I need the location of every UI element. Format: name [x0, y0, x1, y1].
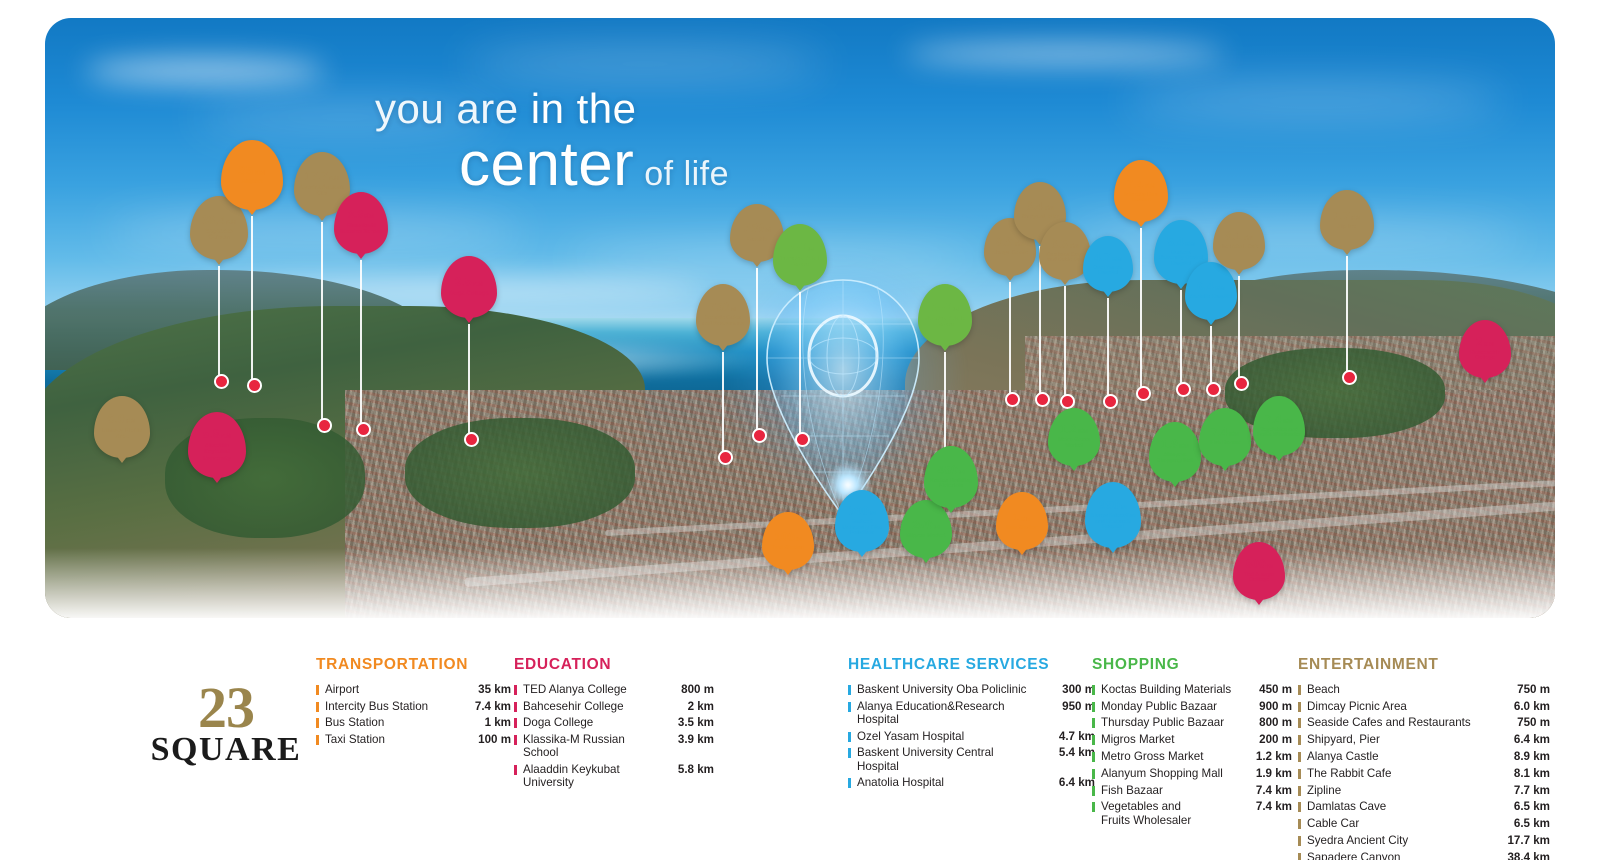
map-pin-label: Intercity Bus Station — [1114, 193, 1168, 205]
map-pin-stem — [360, 260, 362, 432]
map-pin-distance: 1.9KM — [1161, 439, 1189, 451]
legend-item-label-line2: Fruits Wholesaler — [1101, 814, 1236, 827]
map-pin-distance: 17.7KM — [305, 171, 339, 183]
legend-bullet-icon — [1092, 769, 1095, 779]
legend-item-label: The Rabbit Cafe — [1307, 767, 1488, 780]
map-pin-unit: M — [953, 306, 959, 313]
map-pin[interactable]: 35KMAirport — [221, 140, 283, 210]
map-pin-stem — [468, 324, 470, 442]
map-pin-unit: KM — [1112, 256, 1122, 263]
legend-item-value: 8.1 km — [1488, 767, 1550, 780]
map-pin[interactable]: 6.0KMDimcay Picnic Area — [94, 396, 150, 458]
legend-item[interactable]: Klassika-M Russian School3.9 km — [514, 731, 714, 761]
legend-column-entertainment: ENTERTAINMENTBeach750 mDimcay Picnic Are… — [1298, 656, 1550, 860]
map-pin-label: Baskent University Oba Policlinic — [835, 520, 889, 538]
map-pin[interactable]: 1.2KMMetro Gross Market — [1048, 408, 1100, 466]
legend-item[interactable]: Metro Gross Market1.2 km — [1092, 748, 1292, 765]
map-pin-label: Alaaddin Keykubat University — [188, 443, 246, 461]
map-pin[interactable]: 1.9KMAlanyum Shopping Mall — [1149, 422, 1201, 482]
map-pin-label: Thursday Public Bazaar — [773, 256, 827, 268]
legend-column-healthcare: HEALTHCARE SERVICESBaskent University Ob… — [848, 656, 1095, 791]
map-pin-label: Doga College — [445, 291, 493, 298]
legend-bullet-icon — [514, 718, 517, 728]
map-pin-bulb: 3.5KMDoga College — [441, 256, 497, 318]
map-pin-bulb: 7.4KMVegetables and Fruits Wholesaler — [1253, 396, 1305, 456]
map-pin-label: Metro Gross Market — [1048, 438, 1100, 449]
legend-item-label: Alanya Castle — [1307, 750, 1488, 763]
map-pin[interactable]: 3.9KMKlassika-M Russian School — [334, 192, 388, 254]
map-pin-unit: M — [808, 246, 814, 253]
legend-item[interactable]: Alaaddin Keykubat University5.8 km — [514, 761, 714, 791]
map-pin-stem — [251, 216, 253, 388]
headline-line1-thin: you are — [375, 85, 531, 132]
legend-item-label-line1: Cable Car — [1307, 817, 1359, 830]
legend-item-value: 7.4 km — [453, 700, 511, 713]
park — [405, 418, 635, 528]
legend-item-label: TED Alanya College — [523, 683, 654, 696]
map-pin-label: Ozel Yasam Hospital — [1083, 266, 1133, 277]
map-pin-distance: 7.4KM — [1211, 427, 1239, 439]
legend-item-label: Baskent University Oba Policlinic — [857, 683, 1033, 696]
legend-item[interactable]: Koctas Building Materials450 m — [1092, 681, 1292, 698]
legend-item-label-line1: Seaside Cafes and Restaurants — [1307, 716, 1471, 729]
legend-item[interactable]: Migros Market200 m — [1092, 731, 1292, 748]
map-pin-distance: 3.5KM — [455, 276, 484, 289]
legend-item-label-line1: Bus Station — [325, 716, 384, 729]
legend-item-label-line1: Zipline — [1307, 784, 1341, 797]
legend-bullet-icon — [848, 748, 851, 758]
legend-bullet-icon — [316, 735, 319, 745]
legend-item[interactable]: Taxi Station100 m — [316, 731, 511, 748]
map-pin[interactable]: 800MThursday Public Bazaar — [773, 224, 827, 286]
legend-item[interactable]: Intercity Bus Station7.4 km — [316, 698, 511, 715]
map-pin-unit: KM — [221, 433, 232, 440]
legend-bullet-icon — [1092, 752, 1095, 762]
legend-column-education: EDUCATIONTED Alanya College800 mBahceseh… — [514, 656, 714, 791]
map-pin-stem — [1346, 256, 1348, 380]
map-pin-label: Anatolia Hospital — [1186, 295, 1236, 300]
map-pin-stem — [1009, 282, 1011, 402]
map-pin-stem — [1180, 290, 1182, 392]
legend-item-value: 200 m — [1236, 733, 1292, 746]
map-pin-stem — [218, 266, 220, 384]
legend-item-value: 17.7 km — [1488, 834, 1550, 847]
legend-item-value: 6.5 km — [1488, 817, 1550, 830]
legend-item[interactable]: Alanya Castle8.9 km — [1298, 748, 1550, 765]
map-pin-distance: 750M — [743, 222, 771, 235]
legend-item-value: 35 km — [453, 683, 511, 696]
map-pin-label: Alanya Castle — [988, 251, 1033, 257]
legend-item-value: 3.5 km — [654, 716, 714, 729]
legend-bullet-icon — [1298, 819, 1301, 829]
map-pin-unit: M — [796, 536, 802, 543]
legend-item-label-line1: Alaaddin Keykubat University — [523, 763, 620, 789]
map-pin-bulb: 300MBaskent University Oba Policlinic — [835, 490, 889, 552]
legend-column-title: TRANSPORTATION — [316, 656, 511, 674]
legend-item-label-line1: Alanya Castle — [1307, 750, 1379, 763]
map-pin-distance: 800M — [786, 241, 813, 254]
map-pin-stem — [756, 268, 758, 438]
legend-bullet-icon — [1298, 769, 1301, 779]
legend-item-label: Vegetables andFruits Wholesaler — [1101, 800, 1236, 826]
legend-item-value: 5.4 km — [1033, 746, 1095, 759]
map-pin-label: Taxi Station — [768, 545, 808, 551]
legend-item-value: 1.2 km — [1236, 750, 1292, 763]
map-pin-bulb: 1KMBus Station — [996, 492, 1048, 550]
infographic-page: you are in the center of life — [0, 0, 1600, 860]
map-pin[interactable]: 4.7KMOzel Yasam Hospital — [1083, 236, 1133, 292]
map-pin-bulb: 750MSeaside Cafes and Restaurants — [696, 284, 750, 346]
map-pin[interactable]: 6.4KMAnatolia Hospital — [1185, 262, 1237, 320]
map-pin-label: Ted Alanya College — [1233, 573, 1285, 585]
map-pin-distance: 900M — [931, 301, 958, 314]
legend-item-label: Damlatas Cave — [1307, 800, 1488, 813]
legend-bullet-icon — [848, 702, 851, 712]
legend-bullet-icon — [848, 685, 851, 695]
map-pin-distance: 800M — [1245, 558, 1272, 571]
legend-item-label-line1: Damlatas Cave — [1307, 800, 1386, 813]
legend-item-value: 2 km — [654, 700, 714, 713]
map-pin-unit: KM — [1215, 285, 1225, 292]
legend-item-label: Cable Car — [1307, 817, 1488, 830]
legend-item-label: Beach — [1307, 683, 1488, 696]
legend-item-value: 3.9 km — [654, 733, 714, 746]
map-pin-unit: KM — [1145, 183, 1156, 190]
legend-item[interactable]: Baskent University Oba Policlinic300 m — [848, 681, 1095, 698]
map-pin-label: Klassika-M Russian School — [334, 224, 388, 236]
map-pin-label: Bahcesehir College — [1459, 351, 1511, 362]
legend-item-label: Baskent University Central Hospital — [857, 746, 1033, 772]
map-pin-label: Shipyard, Pier — [1017, 215, 1063, 221]
map-pin-unit: KM — [1078, 428, 1088, 435]
legend-item-label-line1: Shipyard, Pier — [1307, 733, 1380, 746]
map-pin-unit: M — [731, 306, 736, 313]
map-pin-unit: M — [765, 227, 771, 234]
legend-bullet-icon — [514, 765, 517, 775]
legend-item[interactable]: Anatolia Hospital6.4 km — [848, 775, 1095, 792]
map-pin-stem — [1107, 298, 1109, 404]
map-pin-bulb: 7.7KMZipline — [1320, 190, 1374, 250]
cloud — [85, 58, 325, 84]
map-pin-label: Koctas Building Materials — [924, 479, 978, 491]
map-pin-label: Vegetables and Fruits Wholesaler — [1253, 428, 1305, 439]
legend-item[interactable]: Seaside Cafes and Restaurants750 m — [1298, 715, 1550, 732]
legend-item[interactable]: Alanya Education&Research Hospital950 m — [848, 698, 1095, 728]
map-pin-unit: KM — [1179, 443, 1189, 450]
legend-bullet-icon — [1298, 752, 1301, 762]
map-pin-distance: 5.4KM — [1167, 237, 1195, 249]
legend-item-value: 5.8 km — [654, 763, 714, 776]
cloud — [1065, 224, 1525, 252]
map-pin-distance: 6.4KM — [1026, 201, 1054, 213]
map-pin[interactable]: 300MBaskent University Oba Policlinic — [835, 490, 889, 552]
legend-item[interactable]: Cable Car6.5 km — [1298, 815, 1550, 832]
map-pin[interactable]: 1KMBus Station — [996, 492, 1048, 550]
map-pin-unit: M — [870, 510, 876, 517]
map-pin-label: Sapadere Canyon — [190, 229, 248, 242]
legend-item[interactable]: Bus Station1 km — [316, 715, 511, 732]
legend-item-label-line1: Beach — [1307, 683, 1340, 696]
map-pin-stem — [722, 352, 724, 460]
cloud — [1125, 88, 1505, 114]
legend-item-label-line1: Intercity Bus Station — [325, 700, 428, 713]
map-pin-bulb: 5.8KMAlaaddin Keykubat University — [188, 412, 246, 478]
brand-number: 23 — [126, 680, 326, 735]
map-pin-label: Airport — [237, 179, 266, 186]
legend-item-value: 8.9 km — [1488, 750, 1550, 763]
map-pin-distance: 5.8KM — [203, 428, 232, 441]
map-pin[interactable]: 5.8KMAlaaddin Keykubat University — [188, 412, 246, 478]
legend-item-label: Klassika-M Russian School — [523, 733, 654, 759]
legend-item-label-line1: Sapadere Canyon — [1307, 851, 1400, 860]
legend-item[interactable]: Shipyard, Pier6.4 km — [1298, 731, 1550, 748]
legend-item-value: 300 m — [1033, 683, 1095, 696]
legend-item[interactable]: Zipline7.7 km — [1298, 782, 1550, 799]
legend-item[interactable]: Sapadere Canyon38.4 km — [1298, 849, 1550, 860]
headline-line1-bold: in the — [531, 85, 637, 132]
legend-item-label-line1: Monday Public Bazaar — [1101, 700, 1217, 713]
map-pin-distance: 950M — [1099, 499, 1126, 512]
legend-item-label: Bahcesehir College — [523, 700, 654, 713]
map-pin-unit: KM — [1351, 215, 1362, 222]
map-pin-unit: KM — [1484, 341, 1495, 348]
map-pin-unit: KM — [126, 418, 137, 425]
map-pin[interactable]: 800MTed Alanya College — [1233, 542, 1285, 600]
map-pin-unit: KM — [473, 281, 484, 288]
legend-item[interactable]: Beach750 m — [1298, 681, 1550, 698]
legend-item-label: Alanyum Shopping Mall — [1101, 767, 1236, 780]
map-pin-distance: 7.4KM — [1127, 178, 1156, 191]
map-pin-distance: 2KM — [1476, 336, 1495, 349]
legend-item-value: 800 m — [1236, 716, 1292, 729]
legend-item-label-line1: Vegetables and — [1101, 800, 1181, 813]
legend-item-value: 6.0 km — [1488, 700, 1550, 713]
map-pin[interactable]: 3.5KMDoga College — [441, 256, 497, 318]
map-pin-bulb: 800MTed Alanya College — [1233, 542, 1285, 600]
legend-item-label: Dimcay Picnic Area — [1307, 700, 1488, 713]
map-pin-stem — [1140, 228, 1142, 396]
legend-bullet-icon — [1298, 853, 1301, 860]
legend-item-label-line1: Baskent University Oba Policlinic — [857, 683, 1026, 696]
legend-item-value: 450 m — [1236, 683, 1292, 696]
map-pin-distance: 6.0KM — [108, 413, 137, 426]
map-pin-unit: KM — [1014, 241, 1024, 248]
legend-item[interactable]: Syedra Ancient City17.7 km — [1298, 832, 1550, 849]
legend-item[interactable]: The Rabbit Cafe8.1 km — [1298, 765, 1550, 782]
map-pin-bulb: 100MTaxi Station — [762, 512, 814, 570]
legend-column-title: HEALTHCARE SERVICES — [848, 656, 1095, 674]
legend-item-label-line1: Klassika-M Russian School — [523, 733, 625, 759]
legend-section: 23 SQUARE TRANSPORTATIONAirport35 kmInte… — [0, 640, 1600, 860]
legend-item-label: Zipline — [1307, 784, 1488, 797]
legend-item[interactable]: Fish Bazaar7.4 km — [1092, 782, 1292, 799]
map-pin-unit: M — [959, 469, 965, 476]
legend-bullet-icon — [848, 732, 851, 742]
legend-item-label: Metro Gross Market — [1101, 750, 1236, 763]
map-pin-bulb: 1.2KMMetro Gross Market — [1048, 408, 1100, 466]
map-pin[interactable]: 7.4KMVegetables and Fruits Wholesaler — [1253, 396, 1305, 456]
legend-item[interactable]: Dimcay Picnic Area6.0 km — [1298, 698, 1550, 715]
map-pin-label: Zipline — [1334, 224, 1361, 230]
legend-item-label-line1: Koctas Building Materials — [1101, 683, 1231, 696]
legend-bullet-icon — [316, 685, 319, 695]
legend-item-value: 7.7 km — [1488, 784, 1550, 797]
center-location-pin-hologram — [763, 276, 923, 526]
legend-bullet-icon — [1298, 702, 1301, 712]
map-pin-distance: 1KM — [1013, 511, 1032, 524]
legend-item-label-line1: Ozel Yasam Hospital — [857, 730, 964, 743]
map-pin-unit: KM — [365, 214, 375, 220]
map-pin-label: Bus Station — [1002, 525, 1042, 531]
map-pin[interactable]: 8.1KMThe Rabbit Cafe — [1213, 212, 1265, 270]
legend-item-value: 6.4 km — [1033, 776, 1095, 789]
legend-item[interactable]: Monday Public Bazaar900 m — [1092, 698, 1292, 715]
map-pin-distance: 8.1KM — [1225, 231, 1253, 243]
map-pin-bulb: 450MKoctas Building Materials — [924, 446, 978, 508]
legend-bullet-icon — [1298, 685, 1301, 695]
legend-item-label-line1: Airport — [325, 683, 359, 696]
legend-item-label-line1: Alanyum Shopping Mall — [1101, 767, 1223, 780]
legend-item[interactable]: Baskent University Central Hospital5.4 k… — [848, 745, 1095, 775]
legend-column-transportation: TRANSPORTATIONAirport35 kmIntercity Bus … — [316, 656, 511, 748]
legend-bullet-icon — [1298, 836, 1301, 846]
map-pin-distance: 6.4KM — [1197, 281, 1225, 293]
map-pin[interactable]: 2KMBahcesehir College — [1459, 320, 1511, 378]
legend-item-label-line1: Bahcesehir College — [523, 700, 624, 713]
legend-item[interactable]: Doga College3.5 km — [514, 715, 714, 732]
legend-item-label-line1: Taxi Station — [325, 733, 385, 746]
legend-item-label-line1: Alanya Education&Research Hospital — [857, 700, 1005, 726]
map-pin[interactable]: 100MTaxi Station — [762, 512, 814, 570]
legend-item[interactable]: Bahcesehir College2 km — [514, 698, 714, 715]
legend-item-value: 4.7 km — [1033, 730, 1095, 743]
legend-item-label: Doga College — [523, 716, 654, 729]
map-pin-distance: 4.7KM — [1094, 252, 1122, 264]
map-pin-distance: 6.5KM — [1051, 239, 1079, 251]
map-pin[interactable]: 450MKoctas Building Materials — [924, 446, 978, 508]
legend-bullet-icon — [1092, 786, 1095, 796]
map-pin-stem — [1238, 276, 1240, 386]
legend-item-label-line1: The Rabbit Cafe — [1307, 767, 1391, 780]
legend-item-value: 100 m — [453, 733, 511, 746]
legend-item-value: 750 m — [1488, 683, 1550, 696]
legend-item-label-line1: TED Alanya College — [523, 683, 627, 696]
legend-bullet-icon — [514, 685, 517, 695]
map-pin[interactable]: 7.4KMFish Bazaar — [1199, 408, 1251, 466]
legend-item-label: Thursday Public Bazaar — [1101, 716, 1236, 729]
map-pin-unit: M — [1267, 563, 1273, 570]
cloud — [465, 52, 825, 76]
map-pin-unit: KM — [1021, 516, 1032, 523]
legend-item-label: Anatolia Hospital — [857, 776, 1033, 789]
map-pin-stem — [1064, 286, 1066, 404]
map-pin-bulb: 6.4KMAnatolia Hospital — [1185, 262, 1237, 320]
brand-logo: 23 SQUARE — [126, 680, 326, 769]
map-pin-distance: 200M — [912, 519, 939, 532]
legend-bullet-icon — [1092, 802, 1095, 812]
legend-column-title: ENTERTAINMENT — [1298, 656, 1550, 674]
map-pin[interactable]: 7.7KMZipline — [1320, 190, 1374, 250]
legend-bullet-icon — [1298, 802, 1301, 812]
map-pin-unit: KM — [1229, 431, 1239, 438]
map-pin[interactable]: 950MAlanya Education and Research Hospit… — [1085, 482, 1141, 548]
legend-item[interactable]: Alanyum Shopping Mall1.9 km — [1092, 765, 1292, 782]
legend-item-value: 1 km — [453, 716, 511, 729]
map-pin-bulb: 35KMAirport — [221, 140, 283, 210]
map-pin-label: Migros Market — [902, 533, 949, 539]
legend-bullet-icon — [1298, 735, 1301, 745]
legend-item-label: Bus Station — [325, 716, 453, 729]
map-pin-bulb: 800MThursday Public Bazaar — [773, 224, 827, 286]
map-pin-distance: 100M — [774, 531, 801, 544]
legend-item[interactable]: Vegetables andFruits Wholesaler7.4 km — [1092, 799, 1292, 829]
cloud — [905, 44, 1225, 64]
map-pin-unit: KM — [1283, 418, 1293, 425]
legend-item[interactable]: Thursday Public Bazaar800 m — [1092, 715, 1292, 732]
legend-item-label: Ozel Yasam Hospital — [857, 730, 1033, 743]
legend-item-label-line1: Metro Gross Market — [1101, 750, 1203, 763]
map-pin-distance: 7.4KM — [1265, 414, 1293, 426]
legend-item-label: Intercity Bus Station — [325, 700, 453, 713]
map-pin-unit: KM — [1044, 205, 1054, 212]
map-pin-label: Alanyum Shopping Mall — [1149, 453, 1201, 464]
map-pin-bulb: 1.9KMAlanyum Shopping Mall — [1149, 422, 1201, 482]
map-pin-distance: 38,4KM — [202, 215, 236, 227]
legend-item[interactable]: Damlatas Cave6.5 km — [1298, 799, 1550, 816]
legend-item-label-line1: Doga College — [523, 716, 593, 729]
map-pin-bulb: 8.1KMThe Rabbit Cafe — [1213, 212, 1265, 270]
legend-item[interactable]: Airport35 km — [316, 681, 511, 698]
legend-item-label-line1: Anatolia Hospital — [857, 776, 944, 789]
legend-item-value: 7.4 km — [1236, 784, 1292, 797]
legend-item[interactable]: Ozel Yasam Hospital4.7 km — [848, 728, 1095, 745]
legend-item-value: 6.5 km — [1488, 800, 1550, 813]
legend-bullet-icon — [514, 735, 517, 745]
legend-bullet-icon — [316, 702, 319, 712]
hero-map-panel: you are in the center of life — [45, 18, 1555, 618]
map-pin[interactable]: 750MSeaside Cafes and Restaurants — [696, 284, 750, 346]
legend-item-label: Airport — [325, 683, 453, 696]
legend-item-label: Seaside Cafes and Restaurants — [1307, 716, 1488, 729]
map-pin-bulb: 3.9KMKlassika-M Russian School — [334, 192, 388, 254]
legend-bullet-icon — [848, 778, 851, 788]
legend-item[interactable]: TED Alanya College800 m — [514, 681, 714, 698]
brand-word: SQUARE — [126, 731, 326, 769]
legend-bullet-icon — [1092, 685, 1095, 695]
legend-bullet-icon — [316, 718, 319, 728]
map-pin-bulb: 6.0KMDimcay Picnic Area — [94, 396, 150, 458]
map-pin[interactable]: 7.4KMIntercity Bus Station — [1114, 160, 1168, 222]
legend-item-value: 7.4 km — [1236, 800, 1292, 813]
map-pin-unit: KM — [1069, 243, 1079, 250]
map-pin-label: Alanya Education and Research Hospital — [1085, 514, 1141, 531]
map-pin-stem — [799, 292, 801, 442]
legend-item-label: Fish Bazaar — [1101, 784, 1236, 797]
map-pin-label: Seaside Cafes and Restaurants — [696, 316, 750, 327]
legend-column-shopping: SHOPPINGKoctas Building Materials450 mMo… — [1092, 656, 1292, 829]
legend-bullet-icon — [1092, 702, 1095, 712]
map-pin-unit: KM — [329, 175, 339, 182]
headline: you are in the center of life — [375, 88, 1075, 196]
legend-item-label: Monday Public Bazaar — [1101, 700, 1236, 713]
map-pin[interactable]: 900MMonday Public Bazaar — [918, 284, 972, 346]
map-pin-distance: 300M — [848, 505, 875, 518]
legend-item-label: Migros Market — [1101, 733, 1236, 746]
map-pin-distance: 1.2KM — [1060, 424, 1088, 436]
legend-item-value: 38.4 km — [1488, 851, 1550, 860]
map-pin-unit: KM — [254, 169, 266, 177]
map-pin-label: Monday Public Bazaar — [918, 316, 972, 328]
